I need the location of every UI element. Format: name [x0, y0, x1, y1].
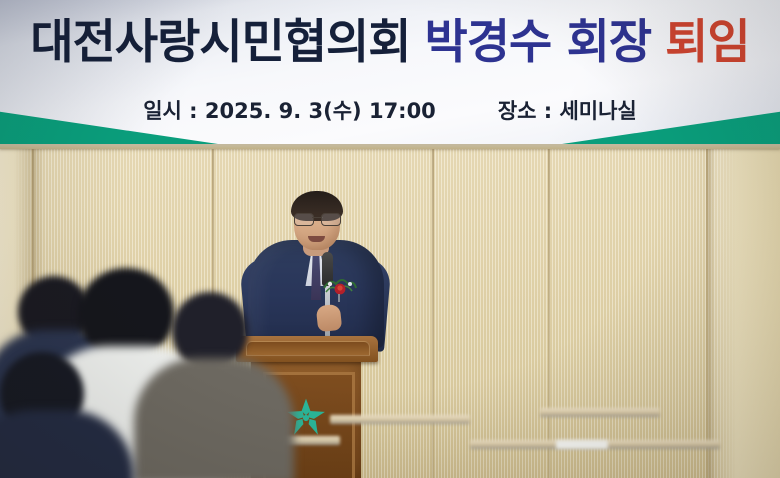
wall-panel-seam — [548, 149, 550, 478]
banner-title-person: 박경수 회장 — [425, 18, 652, 69]
banner-title-event: 퇴임 — [665, 18, 749, 69]
banner-venue: 장소 : 세미나실 — [498, 95, 637, 125]
audience-table — [330, 415, 470, 424]
event-banner: 대전사랑시민협의회 박경수 회장 퇴임 일시 : 2025. 9. 3(수) 1… — [0, 0, 780, 144]
glasses-icon — [294, 213, 341, 224]
table-paper — [556, 440, 608, 449]
attendee-body — [134, 358, 294, 478]
audience-table — [540, 408, 660, 417]
wall-right-column — [708, 140, 780, 478]
podium-lectern-ledge — [246, 341, 370, 356]
banner-title-org: 대전사랑시민협의회 — [30, 18, 410, 69]
banner-title: 대전사랑시민협의회 박경수 회장 퇴임 — [0, 18, 780, 69]
glasses-right-lens — [321, 213, 341, 226]
ceremony-photo: 대전사랑시민협의회 박경수 회장 퇴임 일시 : 2025. 9. 3(수) 1… — [0, 0, 780, 478]
rose-corsage-icon — [320, 272, 360, 302]
glasses-left-lens — [294, 213, 314, 226]
banner-datetime: 일시 : 2025. 9. 3(수) 17:00 — [143, 95, 436, 125]
banner-subtitle: 일시 : 2025. 9. 3(수) 17:00 장소 : 세미나실 — [0, 95, 780, 125]
wall-panel-seam — [706, 149, 708, 478]
wall-panel-seam — [432, 149, 434, 478]
speaker-hand — [316, 304, 343, 332]
